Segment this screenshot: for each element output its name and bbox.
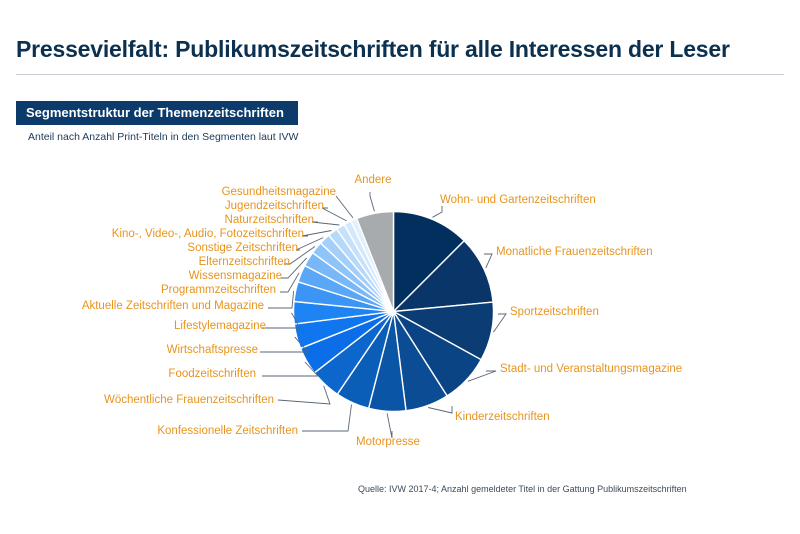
leader-line <box>312 222 339 225</box>
leader-line <box>493 314 506 332</box>
leader-line <box>433 206 443 217</box>
pie-label-jugendzeitschriften: Jugendzeitschriften <box>76 200 324 213</box>
leader-line <box>370 192 374 211</box>
leader-line <box>302 405 352 432</box>
pie-slice-group <box>293 212 493 412</box>
chart-subtitle-note: Anteil nach Anzahl Print-Titeln in den S… <box>28 131 298 143</box>
chart-subtitle-bar: Segmentstruktur der Themenzeitschriften <box>16 101 298 125</box>
pie-label-woechentliche-frauenzeitschriften: Wöchentliche Frauenzeitschriften <box>36 394 274 407</box>
pie-label-stadt-veranstaltungsmagazine: Stadt- und Veranstaltungsmagazine <box>500 363 740 376</box>
leader-line <box>336 196 353 218</box>
pie-label-wirtschaftspresse: Wirtschaftspresse <box>76 344 258 357</box>
page-title: Pressevielfalt: Publikumszeitschriften f… <box>16 36 730 63</box>
pie-chart-area: Andere Gesundheitsmagazine Jugendzeitsch… <box>0 150 800 480</box>
leader-line <box>387 413 392 438</box>
pie-label-monatliche-frauenzeitschriften: Monatliche Frauenzeitschriften <box>496 246 726 259</box>
leader-line <box>322 208 347 221</box>
pie-label-programmzeitschriften: Programmzeitschriften <box>76 284 276 297</box>
pie-label-sportzeitschriften: Sportzeitschriften <box>510 306 690 319</box>
pie-label-wohn-gartenzeitschriften: Wohn- und Gartenzeitschriften <box>440 194 680 207</box>
leader-line <box>428 406 452 413</box>
title-divider <box>16 74 784 75</box>
pie-label-kinderzeitschriften: Kinderzeitschriften <box>455 411 655 424</box>
pie-label-naturzeitschriften: Naturzeitschriften <box>76 214 314 227</box>
leader-line <box>278 386 330 404</box>
pie-label-konfessionelle-zeitschriften: Konfessionelle Zeitschriften <box>76 425 298 438</box>
leader-line <box>484 254 492 268</box>
pie-label-kino-video-audio-foto: Kino-, Video-, Audio, Fotozeitschriften <box>36 228 304 241</box>
pie-label-elternzeitschriften: Elternzeitschriften <box>76 256 290 269</box>
leader-line <box>302 231 332 237</box>
pie-label-foodzeitschriften: Foodzeitschriften <box>76 368 256 381</box>
chart-source-note: Quelle: IVW 2017-4; Anzahl gemeldeter Ti… <box>358 484 687 494</box>
pie-label-lifestylemagazine: Lifestylemagazine <box>76 320 266 333</box>
pie-label-andere: Andere <box>338 174 408 187</box>
pie-label-motorpresse: Motorpresse <box>356 436 446 449</box>
pie-label-sonstige-zeitschriften: Sonstige Zeitschriften <box>76 242 298 255</box>
pie-label-gesundheitsmagazine: Gesundheitsmagazine <box>76 186 336 199</box>
pie-label-aktuelle-zeitschriften: Aktuelle Zeitschriften und Magazine <box>36 300 264 313</box>
pie-label-wissensmagazine: Wissensmagazine <box>76 270 282 283</box>
